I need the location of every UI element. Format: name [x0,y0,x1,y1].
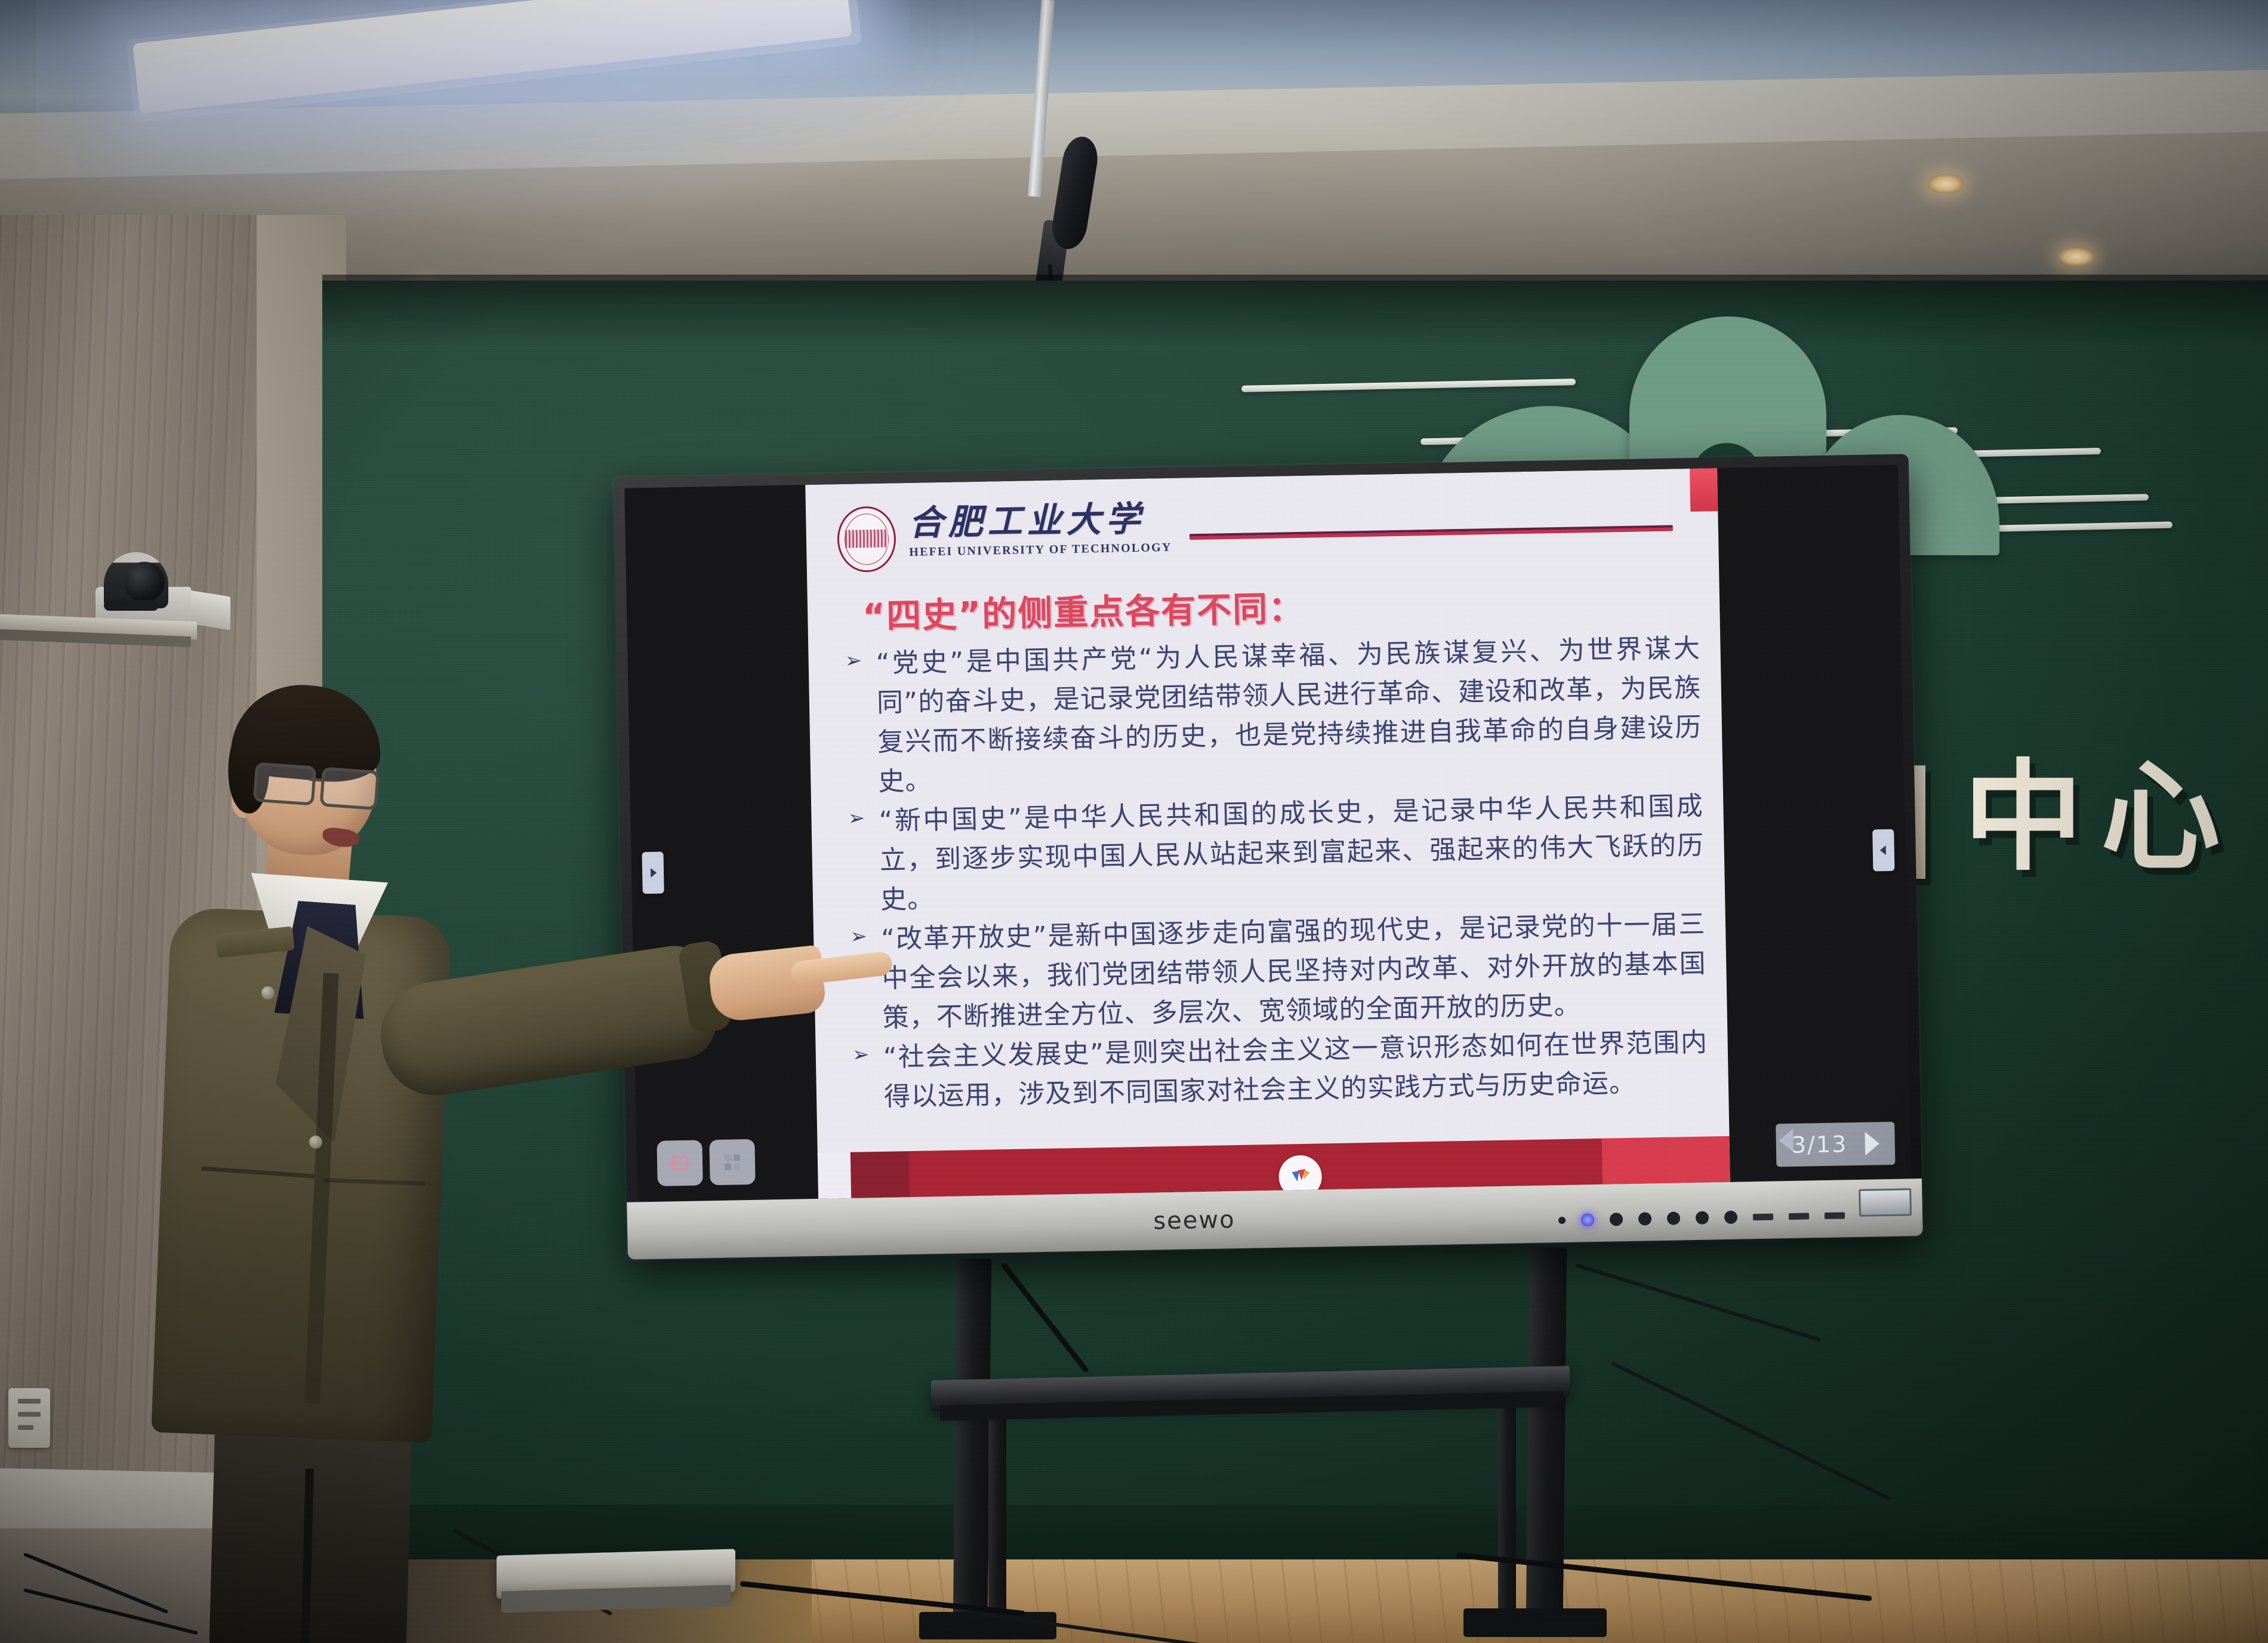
header-rule [1190,525,1672,540]
panel-button[interactable] [1696,1211,1709,1224]
downlight-icon [2059,248,2094,266]
downlight-icon [1928,174,1964,193]
panel-button[interactable] [1667,1211,1680,1224]
bullet-text: “新中国史”是中华人民共和国的成长史，是记录中华人民共和国成立，到逐步实现中国人… [879,787,1705,920]
next-slide-button[interactable] [1865,1131,1880,1155]
university-seal-icon [837,506,896,573]
wall-top-shadow [322,275,2268,346]
university-name-cn: 合肥工业大学 [908,501,1172,540]
list-item: ➢ “党史”是中国共产党“为人民谋幸福、为民族谋复兴、为世界谋大同”的奋斗史，是… [845,629,1703,802]
panel-button[interactable] [1610,1213,1623,1226]
interactive-flat-panel[interactable]: 合肥工业大学 HEFEI UNIVERSITY OF TECHNOLOGY “四… [614,454,1923,1260]
panel-brand-label: seewo [1153,1206,1235,1235]
bullet-text: “党史”是中国共产党“为人民谋幸福、为民族谋复兴、为世界谋大同”的奋斗史，是记录… [876,629,1703,802]
stand-brace-left [988,1391,1006,1630]
stand-foot-right [1463,1608,1607,1637]
right-drawer-handle[interactable] [1872,829,1894,872]
slide-bullet-list: ➢ “党史”是中国共产党“为人民谋幸福、为民族谋复兴、为世界谋大同”的奋斗史，是… [845,629,1708,1118]
panel-button[interactable] [1638,1212,1651,1225]
slide-pager[interactable]: 3/13 [1776,1122,1896,1167]
slide-title: “四史”的侧重点各有不同： [862,580,1305,638]
bullet-arrow-icon: ➢ [848,802,868,829]
power-led-indicator[interactable] [1581,1213,1594,1226]
panel-button[interactable] [1558,1217,1566,1224]
presenter-jacket-pocket [195,1167,315,1268]
list-item: ➢ “新中国史”是中华人民共和国的成长史，是记录中华人民共和国成立，到逐步实现中… [848,787,1705,921]
bullet-text: “社会主义发展史”是则突出社会主义这一意识形态如何在世界范围内得以运用，涉及到不… [883,1023,1708,1117]
bullet-arrow-icon: ➢ [850,920,871,947]
panel-port-label [1825,1212,1845,1219]
panel-screen[interactable]: 合肥工业大学 HEFEI UNIVERSITY OF TECHNOLOGY “四… [624,465,1911,1202]
slide-red-corner [1690,468,1718,512]
presenter-jacket-button [309,1136,322,1149]
classroom-scene: 中心 [0,0,2268,1643]
presenter-jacket-button [261,986,275,999]
bullet-arrow-icon: ➢ [852,1038,873,1065]
slide-footer-white-gap [818,1152,851,1199]
wall-socket-icon [8,1388,50,1448]
presentation-slide[interactable]: 合肥工业大学 HEFEI UNIVERSITY OF TECHNOLOGY “四… [805,468,1730,1199]
panel-port-label [1789,1213,1809,1220]
presenter [143,693,680,1643]
stand-brace-right [1498,1386,1516,1630]
presenter-jacket-pocket [321,1178,425,1269]
stand-column-left [953,1259,991,1617]
bullet-arrow-icon: ➢ [845,644,865,671]
panel-button[interactable] [1724,1211,1737,1224]
slide-header: 合肥工业大学 HEFEI UNIVERSITY OF TECHNOLOGY [837,492,1673,573]
list-item: ➢ “改革开放史”是新中国逐步走向富强的现代史，是记录党的十一届三中全会以来，我… [850,905,1708,1039]
bullet-text: “改革开放史”是新中国逐步走向富强的现代史，是记录党的十一届三中全会以来，我们党… [881,905,1708,1038]
university-name-en: HEFEI UNIVERSITY OF TECHNOLOGY [909,541,1172,559]
page-indicator: 3/13 [1791,1131,1847,1158]
apps-tool-button[interactable] [709,1139,755,1185]
panel-port-label [1753,1213,1773,1220]
panel-usb-port[interactable] [1859,1188,1912,1217]
panel-control-buttons[interactable] [1558,1208,1845,1227]
wall-sign-text: 中心 [1964,758,2238,878]
list-item: ➢ “社会主义发展史”是则突出社会主义这一意识形态如何在世界范围内得以运用，涉及… [852,1023,1708,1118]
